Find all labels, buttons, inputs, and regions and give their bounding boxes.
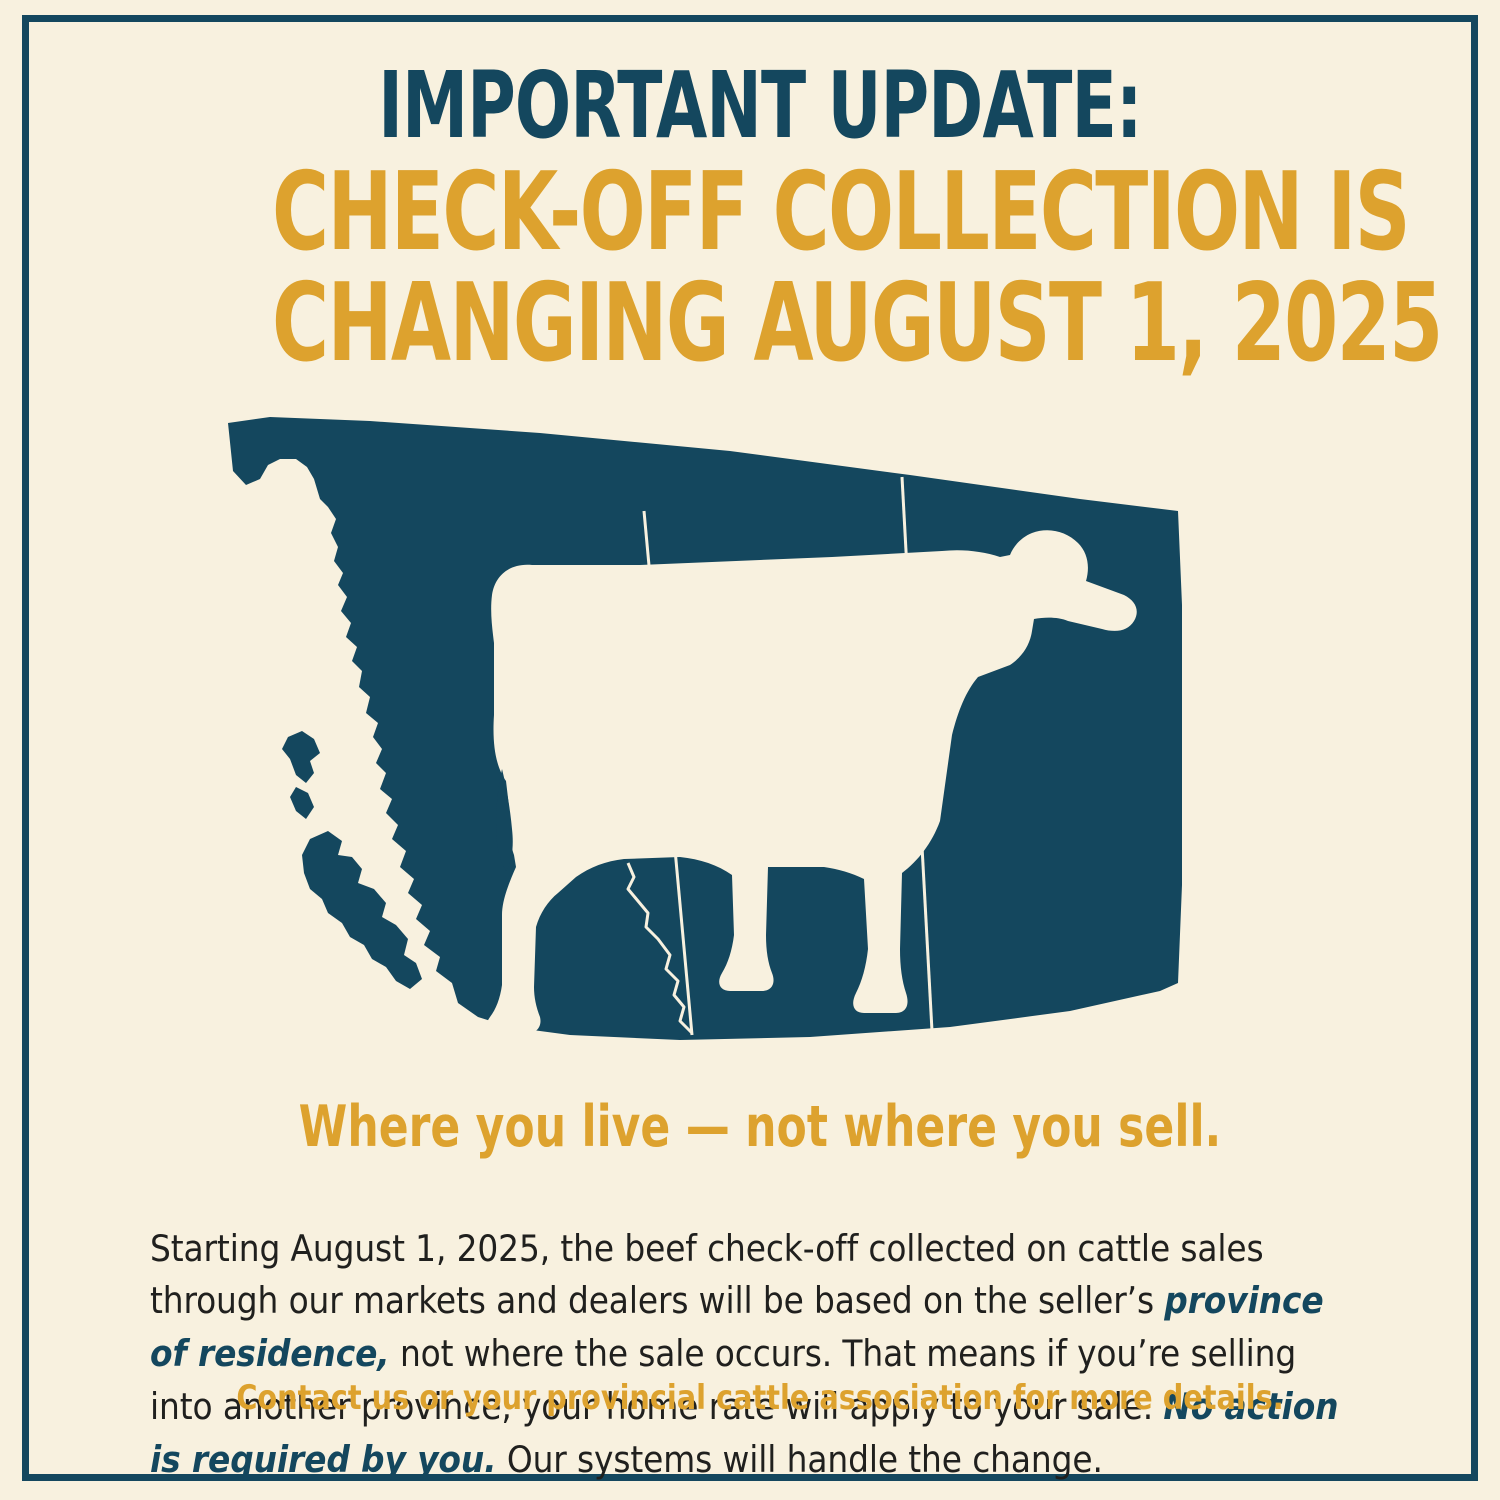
subhead: Where you live — not where you sell. (235, 1098, 1284, 1158)
headline-line-2: CHANGING AUGUST 1, 2025 (272, 268, 1248, 379)
map-island-vancouver (302, 831, 422, 989)
body-paragraph: Starting August 1, 2025, the beef check-… (150, 1223, 1365, 1488)
headline-line-1: CHECK-OFF COLLECTION IS (272, 157, 1248, 268)
poster-root: IMPORTANT UPDATE: CHECK-OFF COLLECTION I… (0, 0, 1500, 1500)
map-svg (210, 415, 1220, 1085)
body-part-3: Our systems will handle the change. (497, 1438, 1103, 1481)
map-island-haida-gwaii (282, 731, 320, 783)
western-canada-map-graphic (210, 415, 1220, 1085)
body-part-1: Starting August 1, 2025, the beef check-… (150, 1227, 1264, 1323)
cta-contact-text: Contact us or your provincial cattle ass… (187, 1378, 1334, 1419)
poster-content: IMPORTANT UPDATE: CHECK-OFF COLLECTION I… (0, 0, 1500, 1500)
headline-kicker: IMPORTANT UPDATE: (272, 64, 1248, 149)
map-island-haida-gwaii-south (290, 787, 314, 819)
headline-block: IMPORTANT UPDATE: CHECK-OFF COLLECTION I… (150, 64, 1370, 379)
